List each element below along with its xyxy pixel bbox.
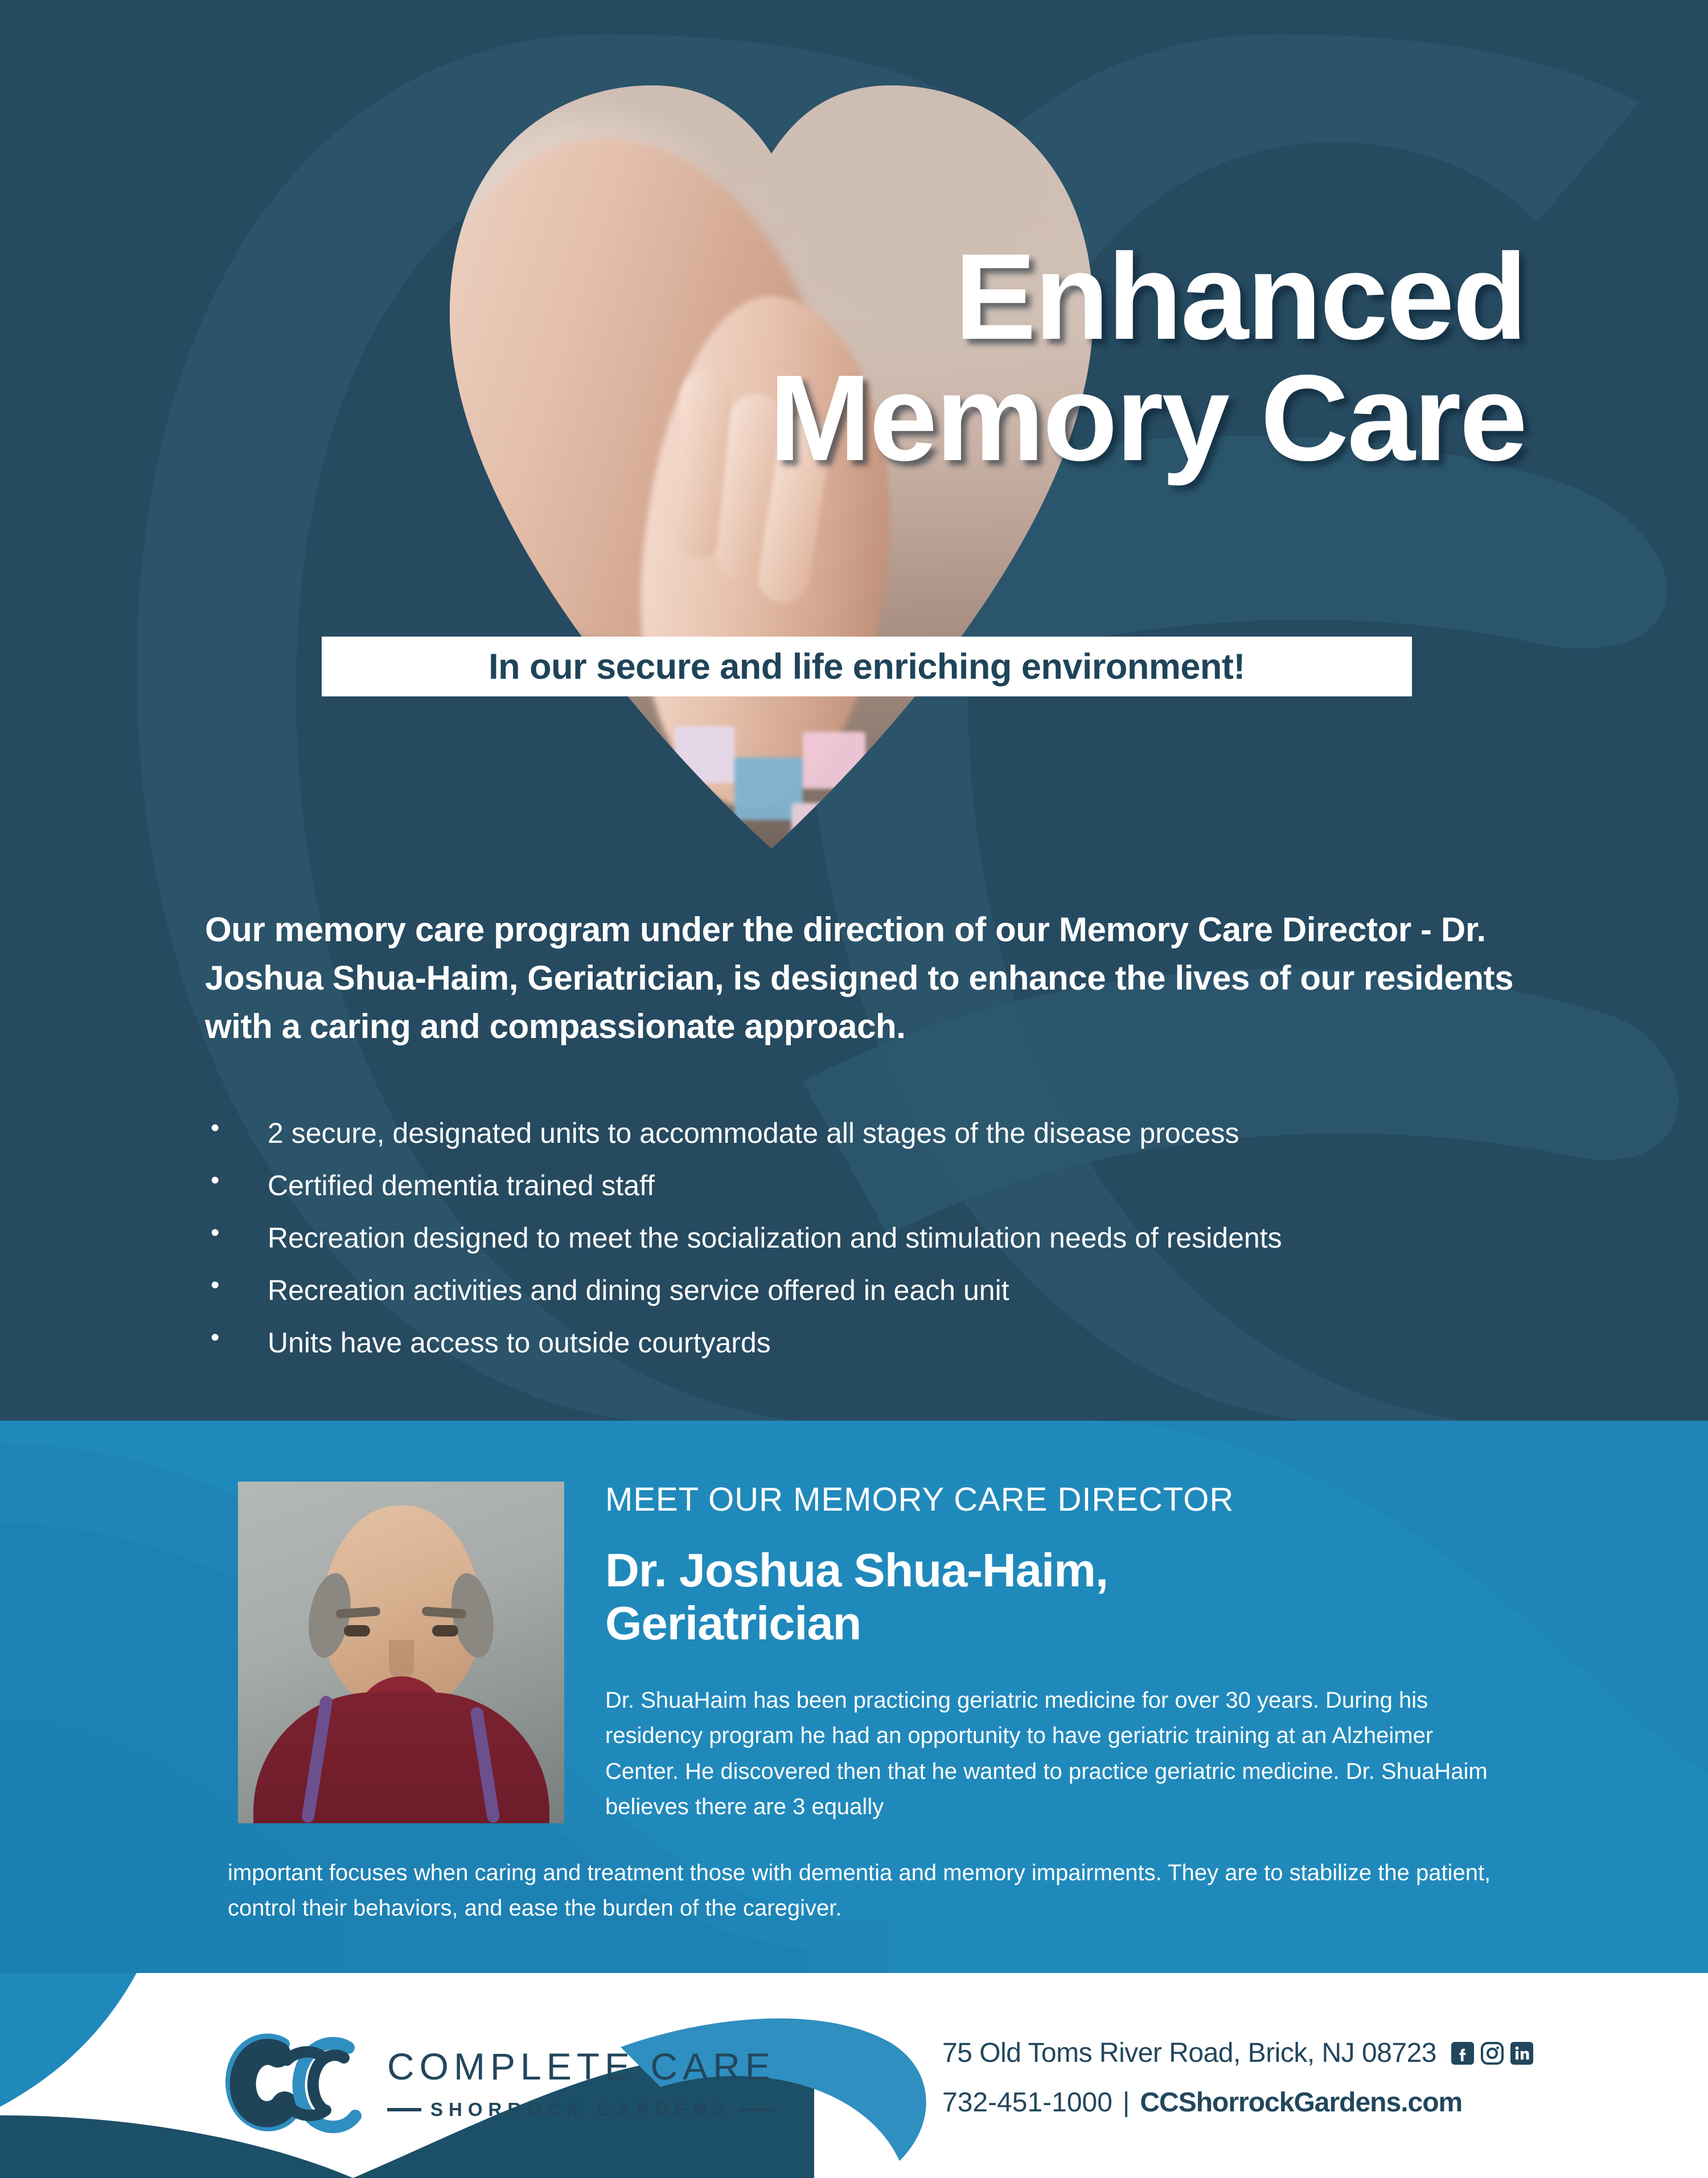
- logo-line-2-wrap: SHORROCK GARDENS: [387, 2100, 888, 2119]
- list-item: Recreation designed to meet the socializ…: [205, 1224, 1526, 1252]
- list-item: Recreation activities and dining service…: [205, 1276, 1526, 1305]
- facebook-icon[interactable]: [1451, 2042, 1474, 2065]
- contact-address-row: 75 Old Toms River Road, Brick, NJ 08723: [942, 2037, 1533, 2069]
- logo-line-1: COMPLETE CARE: [387, 2048, 888, 2085]
- phone-number[interactable]: 732-451-1000: [942, 2087, 1112, 2118]
- website-link[interactable]: CCShorrockGardens.com: [1140, 2087, 1462, 2118]
- director-headshot: [238, 1482, 564, 1823]
- instagram-icon[interactable]: [1481, 2042, 1504, 2065]
- hero-section: Enhanced Memory Care In our secure and l…: [0, 0, 1708, 1421]
- list-item: 2 secure, designated units to accommodat…: [205, 1119, 1526, 1147]
- contact-separator: |: [1123, 2087, 1130, 2118]
- address-text: 75 Old Toms River Road, Brick, NJ 08723: [942, 2037, 1436, 2069]
- memory-care-flyer: Enhanced Memory Care In our secure and l…: [0, 0, 1708, 2178]
- director-bio-part1: Dr. ShuaHaim has been practicing geriatr…: [605, 1683, 1499, 1825]
- intro-paragraph: Our memory care program under the direct…: [205, 905, 1514, 1051]
- linkedin-icon[interactable]: [1510, 2042, 1533, 2065]
- logo-rule-left: [387, 2108, 421, 2111]
- logo-rule-right: [740, 2108, 774, 2111]
- hero-banner: In our secure and life enriching environ…: [322, 637, 1412, 696]
- logo-line-2: SHORROCK GARDENS: [430, 2100, 730, 2119]
- social-links: [1451, 2042, 1533, 2065]
- director-bio-part2: important focuses when caring and treatm…: [228, 1855, 1506, 1926]
- director-name: Dr. Joshua Shua-Haim, Geriatrician: [605, 1544, 1374, 1650]
- director-eyebrow: MEET OUR MEMORY CARE DIRECTOR: [605, 1480, 1234, 1519]
- cc-monogram-icon: [216, 2032, 387, 2140]
- brand-logo: COMPLETE CARE SHORROCK GARDENS: [216, 2027, 888, 2144]
- hero-banner-text: In our secure and life enriching environ…: [488, 646, 1245, 687]
- list-item: Units have access to outside courtyards: [205, 1328, 1526, 1357]
- feature-list: 2 secure, designated units to accommodat…: [205, 1119, 1526, 1381]
- page-title: Enhanced Memory Care: [0, 236, 1526, 479]
- contact-phone-row: 732-451-1000 | CCShorrockGardens.com: [942, 2087, 1533, 2118]
- list-item: Certified dementia trained staff: [205, 1171, 1526, 1200]
- contact-block: 75 Old Toms River Road, Brick, NJ 08723 …: [942, 2037, 1533, 2118]
